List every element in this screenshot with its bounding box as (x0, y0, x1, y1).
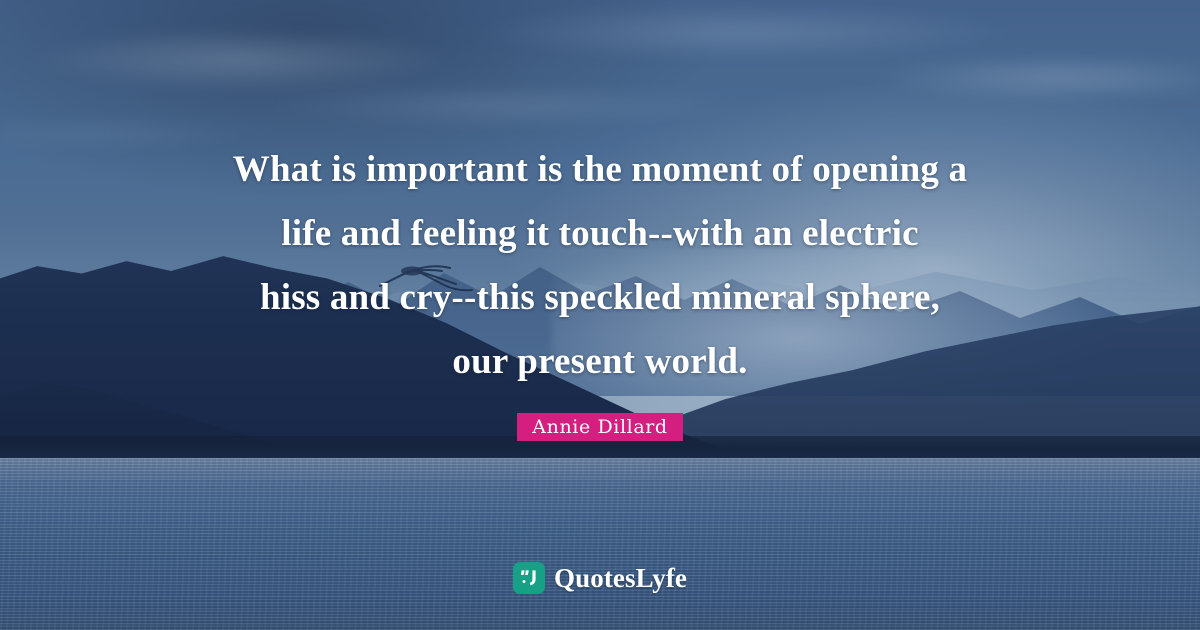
water-ripple-highlights (0, 470, 1200, 630)
quote-text: What is important is the moment of openi… (0, 138, 1200, 394)
quote-marks-icon (513, 562, 545, 594)
quote-card: What is important is the moment of openi… (0, 0, 1200, 630)
quote-line-2: life and feeling it touch--with an elect… (90, 202, 1110, 266)
quote-line-3: hiss and cry--this speckled mineral sphe… (90, 266, 1110, 330)
author-name-badge[interactable]: Annie Dillard (517, 413, 682, 441)
author-badge-container: Annie Dillard (0, 413, 1200, 441)
quoteslyfe-wordmark: QuotesLyfe (554, 563, 687, 594)
quote-line-1: What is important is the moment of openi… (90, 138, 1110, 202)
quoteslyfe-logo[interactable]: QuotesLyfe (0, 562, 1200, 594)
quote-line-4: our present world. (90, 330, 1110, 394)
